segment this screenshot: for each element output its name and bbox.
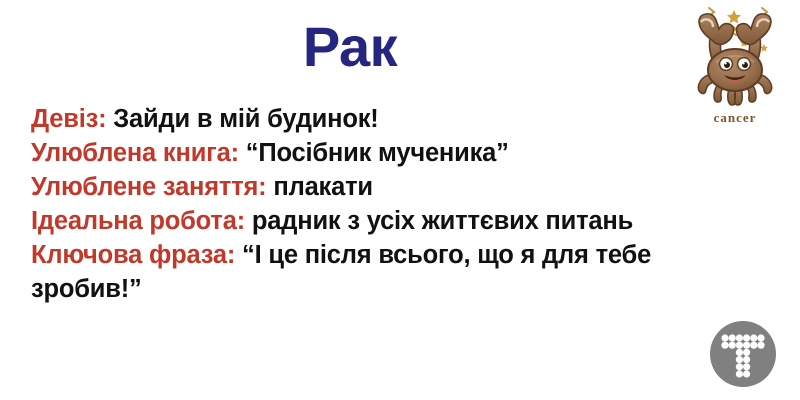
fact-value-favourite-activity: плакати [273,173,373,201]
fact-label-favourite-activity: Улюблене заняття: [31,173,266,201]
zodiac-sign-caption: cancer [676,110,794,126]
fact-line: Ідеальна робота: радник з усіх життєвих … [31,204,671,238]
fact-label-motto: Девіз: [31,105,106,133]
fact-value-ideal-job: радник з усіх життєвих питань [252,207,633,235]
fact-value-motto: Зайди в мій будинок! [113,105,378,133]
crab-icon [676,2,794,114]
fact-line: Девіз: Зайди в мій будинок! [31,102,671,136]
fact-label-ideal-job: Ідеальна робота: [31,207,245,235]
fact-line: Ключова фраза: “І це після всього, що я … [31,238,671,306]
fact-label-favourite-book: Улюблена книга: [31,139,239,167]
page-title: Рак [0,18,700,77]
fact-line: Улюблене заняття: плакати [31,170,671,204]
fact-list: Девіз: Зайди в мій будинок! Улюблена кни… [31,102,671,306]
fact-line: Улюблена книга: “Посібник мученика” [31,136,671,170]
zodiac-illustration: cancer [676,2,794,142]
fact-label-key-phrase: Ключова фраза: [31,241,235,269]
slide-canvas: Рак Девіз: Зайди в мій будинок! Улюблена… [0,0,800,400]
t-dot-circle-logo [707,318,779,390]
fact-value-favourite-book: “Посібник мученика” [246,139,509,167]
